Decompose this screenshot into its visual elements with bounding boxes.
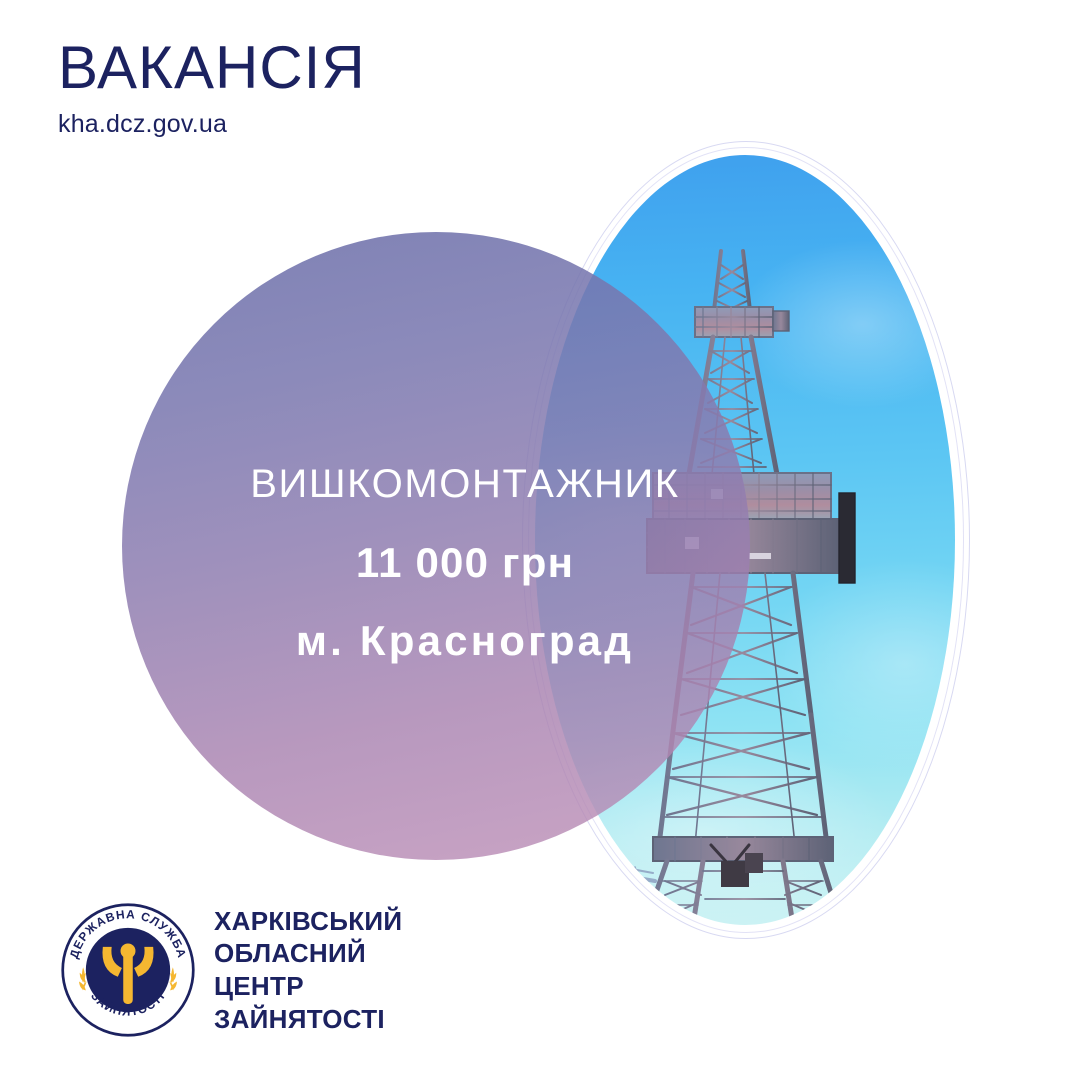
job-title: ВИШКОМОНТАЖНИК: [150, 462, 780, 506]
website-url: kha.dcz.gov.ua: [58, 110, 366, 139]
org-line-3: ЦЕНТР: [214, 970, 402, 1003]
vacancy-poster: ВАКАНСІЯ kha.dcz.gov.ua: [0, 0, 1080, 1080]
city-location: м. Красноград: [150, 618, 780, 664]
org-line-1: ХАРКІВСЬКИЙ: [214, 905, 402, 938]
vacancy-details: ВИШКОМОНТАЖНИК 11 000 грн м. Красноград: [150, 462, 780, 664]
organization-name: ХАРКІВСЬКИЙ ОБЛАСНИЙ ЦЕНТР ЗАЙНЯТОСТІ: [214, 905, 402, 1036]
salary-amount: 11 000 грн: [150, 540, 780, 586]
page-title: ВАКАНСІЯ: [58, 38, 366, 98]
footer-brand: ДЕРЖАВНА СЛУЖБА ЗАЙНЯТОСТІ: [60, 902, 402, 1038]
org-line-2: ОБЛАСНИЙ: [214, 937, 402, 970]
org-line-4: ЗАЙНЯТОСТІ: [214, 1003, 402, 1036]
employment-service-logo-icon: ДЕРЖАВНА СЛУЖБА ЗАЙНЯТОСТІ: [60, 902, 196, 1038]
poster-header: ВАКАНСІЯ kha.dcz.gov.ua: [58, 38, 366, 139]
